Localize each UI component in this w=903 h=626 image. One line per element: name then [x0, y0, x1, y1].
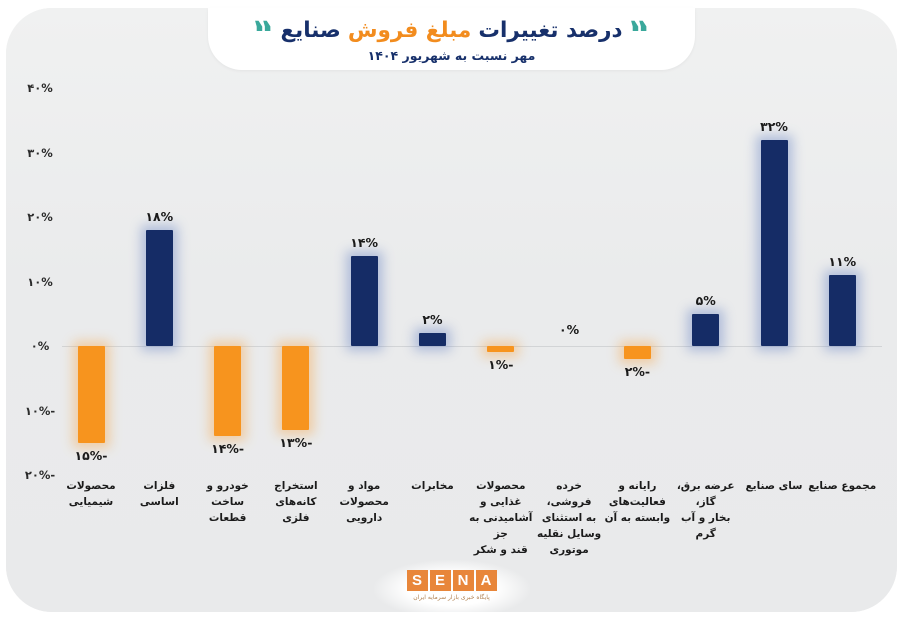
bar-5[interactable]: [419, 333, 446, 346]
bar-value-label-10: ۳۲%: [742, 119, 806, 134]
y-axis-tick-10: ۱۰%: [15, 275, 65, 289]
sena-logo-letters: SENA: [403, 570, 500, 591]
x-axis-category-label-11: مجموع صنایع: [806, 478, 878, 494]
x-axis-category-label-4: مواد و محصولات دارویی: [328, 478, 400, 526]
bar-value-label-11: ۱۱%: [810, 254, 874, 269]
x-axis-category-label-5: مخابرات: [397, 478, 469, 494]
y-axis-tick-40: ۴۰%: [15, 81, 65, 95]
x-axis-category-label-10: سای صنایع: [738, 478, 810, 494]
x-axis-category-label-9: عرضه برق، گاز، بخار و آب گرم: [670, 478, 742, 542]
sena-logo-subtitle: پایگاه خبری بازار سرمایه ایران: [403, 594, 500, 601]
bar-value-label-1: ۱۸%: [127, 209, 191, 224]
sena-letter-e: E: [430, 570, 451, 591]
x-axis-category-label-2: خودرو و ساخت قطعات: [192, 478, 264, 526]
y-axis-tick-0: ۰%: [15, 339, 65, 353]
x-axis-category-label-3: استخراج کانه‌های فلزی: [260, 478, 332, 526]
bar-4[interactable]: [351, 256, 378, 346]
bar-8[interactable]: [624, 346, 651, 359]
sena-logo: SENA پایگاه خبری بازار سرمایه ایران: [403, 570, 500, 601]
bar-value-label-3: -۱۳%: [264, 435, 328, 450]
bar-9[interactable]: [692, 314, 719, 346]
x-axis-category-label-8: رایانه و فعالیت‌های وابسته به آن: [601, 478, 673, 526]
y-axis-tick-20: ۲۰%: [15, 210, 65, 224]
bar-value-label-6: -۱%: [469, 357, 533, 372]
quote-mark-icon: “: [630, 17, 650, 50]
bar-value-label-7: ۰%: [537, 322, 601, 337]
quote-mark-icon-2: “: [254, 17, 274, 50]
x-axis-category-label-0: محصولات شیمیایی: [55, 478, 127, 510]
bar-value-label-9: ۵%: [674, 293, 738, 308]
y-axis-tick--10: -۱۰%: [15, 404, 65, 418]
bar-11[interactable]: [829, 275, 856, 346]
bar-value-label-0: -۱۵%: [59, 448, 123, 463]
sena-letter-s: S: [407, 570, 428, 591]
bar-chart-plot: ۴۰%۳۰%۲۰%۱۰%۰%-۱۰%-۲۰%-۱۵%محصولات شیمیای…: [0, 0, 903, 626]
x-axis-category-label-1: فلزات اساسی: [123, 478, 195, 510]
bar-3[interactable]: [282, 346, 309, 430]
bar-1[interactable]: [146, 230, 173, 346]
bar-value-label-4: ۱۴%: [332, 235, 396, 250]
x-axis-category-label-7: خرده فروشی، به استثنای وسایل نقلیه موتور…: [533, 478, 605, 558]
screenshot-root: “ درصد تغییرات مبلغ فروش صنایع “ مهر نسب…: [0, 0, 903, 626]
bar-value-label-2: -۱۴%: [196, 441, 260, 456]
bar-6[interactable]: [487, 346, 514, 352]
chart-title: “ درصد تغییرات مبلغ فروش صنایع “: [254, 14, 650, 47]
sena-letter-n: N: [453, 570, 474, 591]
y-axis-tick-30: ۳۰%: [15, 146, 65, 160]
bar-2[interactable]: [214, 346, 241, 436]
chart-title-banner: “ درصد تغییرات مبلغ فروش صنایع “ مهر نسب…: [208, 8, 695, 70]
sena-letter-a: A: [476, 570, 497, 591]
zero-axis-line: [62, 346, 882, 347]
title-part-sales: مبلغ فروش: [348, 18, 472, 43]
x-axis-category-label-6: محصولات غذایی و آشامیدنی به جز قند و شکر: [465, 478, 537, 558]
title-part-industry: صنایع: [280, 18, 340, 43]
bar-value-label-8: -۲%: [605, 364, 669, 379]
bar-0[interactable]: [78, 346, 105, 443]
chart-subtitle: مهر نسبت به شهریور ۱۴۰۴: [368, 48, 536, 63]
bar-value-label-5: ۲%: [401, 312, 465, 327]
title-part-changes: درصد تغییرات: [478, 18, 622, 43]
bar-10[interactable]: [761, 140, 788, 346]
